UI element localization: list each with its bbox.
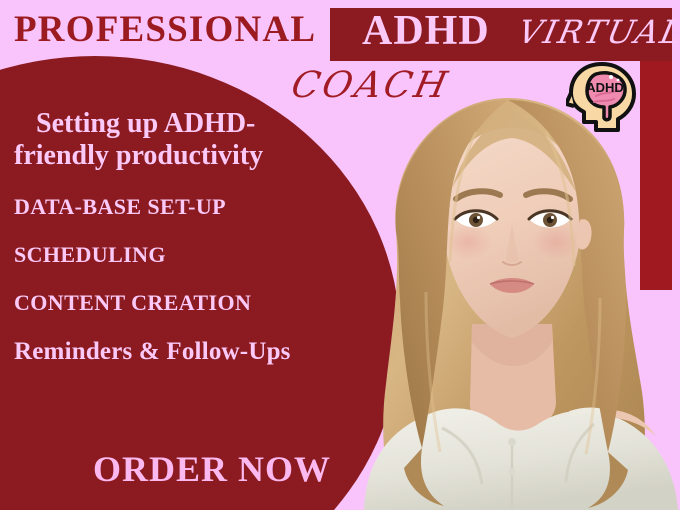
right-vertical-accent-bar	[640, 61, 672, 290]
service-item-reminders-followups: Reminders & Follow-Ups	[0, 338, 400, 366]
service-item-database-setup: DATA-BASE SET-UP	[0, 194, 400, 220]
promo-poster: PROFESSIONAL ADHD VIRTUAL COACH ADHD Set…	[0, 0, 680, 510]
brain-icon-label: ADHD	[586, 80, 624, 95]
service-headline: Setting up ADHD- friendly productivity	[0, 108, 400, 172]
virtual-script-title: VIRTUAL	[514, 9, 680, 55]
adhd-title: ADHD	[362, 6, 490, 56]
order-now-cta[interactable]: ORDER NOW	[93, 448, 331, 490]
professional-title: PROFESSIONAL	[14, 9, 316, 51]
service-item-scheduling: SCHEDULING	[0, 242, 400, 268]
service-headline-line2: friendly productivity	[14, 140, 400, 172]
service-headline-line1: Setting up ADHD-	[36, 108, 255, 139]
service-list: Setting up ADHD- friendly productivity D…	[0, 108, 400, 366]
adhd-brain-icon: ADHD	[566, 60, 640, 136]
model-photo	[356, 92, 680, 510]
service-item-content-creation: CONTENT CREATION	[0, 290, 400, 316]
coach-script-title: COACH	[287, 62, 454, 110]
